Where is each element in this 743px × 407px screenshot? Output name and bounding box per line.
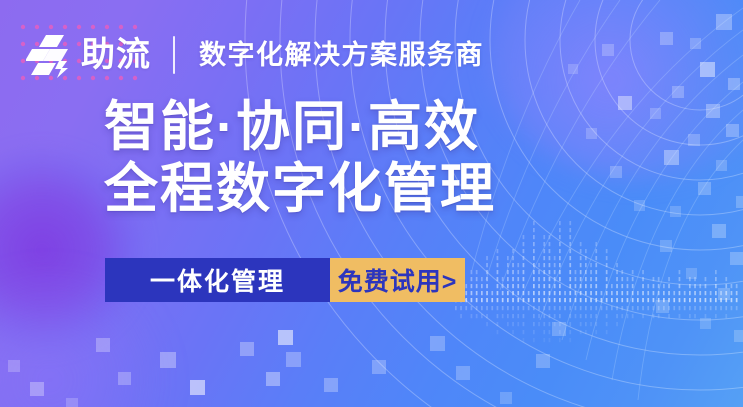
- free-trial-button[interactable]: 免费试用>: [330, 258, 465, 302]
- header-divider: [173, 36, 175, 74]
- headline-block: 智能·协同·高效 全程数字化管理: [104, 96, 496, 220]
- banner-content: 助流 数字化解决方案服务商 智能·协同·高效 全程数字化管理 一体化管理 免费试…: [0, 0, 743, 407]
- integrated-management-button[interactable]: 一体化管理: [105, 258, 330, 302]
- promo-banner: 助流 数字化解决方案服务商 智能·协同·高效 全程数字化管理 一体化管理 免费试…: [0, 0, 743, 407]
- banner-header: 助流 数字化解决方案服务商: [26, 28, 484, 82]
- cta-button-row: 一体化管理 免费试用>: [105, 258, 465, 302]
- lightning-flow-logo-icon: [26, 31, 74, 79]
- headline-line-1: 智能·协同·高效: [104, 96, 496, 158]
- headline-line-2: 全程数字化管理: [104, 158, 496, 220]
- logo-wordmark: 助流: [81, 38, 151, 72]
- header-tagline: 数字化解决方案服务商: [199, 42, 484, 69]
